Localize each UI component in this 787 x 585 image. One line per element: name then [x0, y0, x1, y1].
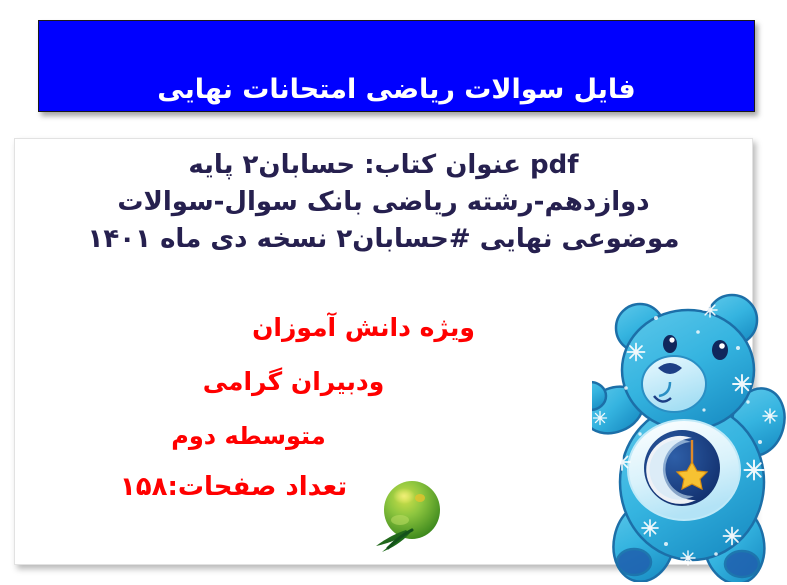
banner-title: فایل سوالات ریاضی امتحانات نهایی	[157, 74, 635, 105]
teachers-note: ودبیران گرامی	[15, 367, 752, 396]
book-title-block: pdf عنوان کتاب: حسابان۲ پایه دوازدهم-رشت…	[21, 147, 746, 258]
audience-note: ویژه دانش آموزان	[15, 313, 752, 342]
page-count-note: تعداد صفحات:۱۵۸	[15, 472, 752, 502]
book-title-line-1: pdf عنوان کتاب: حسابان۲ پایه	[21, 147, 746, 184]
content-card: pdf عنوان کتاب: حسابان۲ پایه دوازدهم-رشت…	[14, 138, 753, 565]
header-banner: فایل سوالات ریاضی امتحانات نهایی	[38, 20, 755, 112]
book-title-line-2: دوازدهم-رشته ریاضی بانک سوال-سوالات	[21, 184, 746, 221]
school-level-note: متوسطه دوم	[15, 422, 752, 450]
poster-page: فایل سوالات ریاضی امتحانات نهایی pdf عنو…	[0, 0, 787, 585]
content-card-inner: pdf عنوان کتاب: حسابان۲ پایه دوازدهم-رشت…	[15, 139, 752, 564]
book-title-line-3: موضوعی نهایی #حسابان۲ نسخه دی ماه ۱۴۰۱	[21, 221, 746, 258]
